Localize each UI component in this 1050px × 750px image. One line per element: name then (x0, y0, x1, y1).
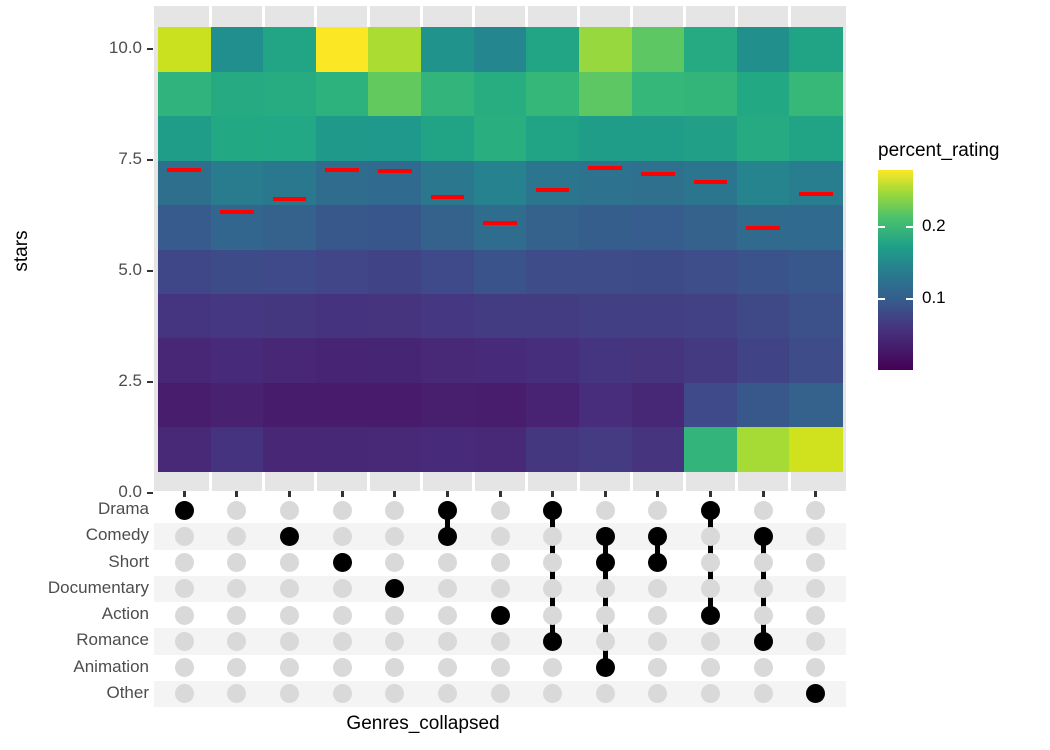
upset-dot-inactive[interactable] (701, 527, 720, 546)
panel-separator (630, 471, 633, 491)
heatmap-cell (684, 293, 737, 338)
y-axis-tick (147, 48, 153, 50)
x-axis-title: Genres_collapsed (0, 713, 846, 735)
upset-dot-inactive[interactable] (333, 684, 352, 703)
panel-separator (262, 6, 265, 27)
heatmap-cell (474, 27, 527, 72)
heatmap-cell (263, 205, 316, 250)
upset-dot-inactive[interactable] (175, 632, 194, 651)
upset-dot-inactive[interactable] (333, 658, 352, 677)
panel-separator (525, 471, 528, 491)
upset-dot-active[interactable] (333, 553, 352, 572)
panel-separator (314, 471, 317, 491)
upset-dot-inactive[interactable] (438, 658, 457, 677)
legend-tick (906, 226, 913, 228)
panel-separator (788, 471, 791, 491)
upset-dot-inactive[interactable] (596, 684, 615, 703)
upset-set-label: Comedy (86, 525, 149, 545)
panel-separator (367, 6, 370, 27)
upset-dot-inactive[interactable] (491, 632, 510, 651)
heatmap-cell (421, 338, 474, 383)
heatmap-cell (368, 249, 421, 294)
upset-set-label: Romance (76, 630, 149, 650)
heatmap-cell (474, 427, 527, 472)
upset-dot-inactive[interactable] (543, 606, 562, 625)
upset-dot-active[interactable] (280, 527, 299, 546)
upset-dot-inactive[interactable] (385, 606, 404, 625)
heatmap-cell (632, 71, 685, 116)
heatmap-cell (263, 427, 316, 472)
upset-dot-inactive[interactable] (280, 606, 299, 625)
heatmap-cell (263, 27, 316, 72)
heatmap-cell (474, 382, 527, 427)
heatmap-cell (158, 160, 211, 205)
heatmap-cell (474, 160, 527, 205)
heatmap-cell (526, 249, 579, 294)
upset-dot-inactive[interactable] (491, 684, 510, 703)
legend-tick (906, 298, 913, 300)
upset-dot-inactive[interactable] (438, 632, 457, 651)
upset-dot-inactive[interactable] (543, 527, 562, 546)
heatmap-cell (737, 160, 790, 205)
upset-dot-inactive[interactable] (333, 501, 352, 520)
heatmap-cell (474, 205, 527, 250)
heatmap-cell (632, 382, 685, 427)
heatmap-cell (158, 205, 211, 250)
heatmap-cell (421, 427, 474, 472)
heatmap-cell (684, 205, 737, 250)
heatmap-cell (368, 71, 421, 116)
upset-dot-inactive[interactable] (175, 606, 194, 625)
heatmap-cell (737, 427, 790, 472)
panel-separator (209, 471, 212, 491)
upset-dot-inactive[interactable] (385, 658, 404, 677)
upset-dot-inactive[interactable] (543, 553, 562, 572)
upset-dot-inactive[interactable] (491, 579, 510, 598)
panel-separator (314, 6, 317, 27)
heatmap-cell (474, 116, 527, 161)
upset-dot-inactive[interactable] (701, 632, 720, 651)
heatmap-cell (474, 338, 527, 383)
heatmap-cell (526, 205, 579, 250)
upset-dot-inactive[interactable] (385, 501, 404, 520)
upset-dot-inactive[interactable] (754, 606, 773, 625)
upset-dot-inactive[interactable] (754, 579, 773, 598)
heatmap-cell (421, 27, 474, 72)
heatmap-cell (368, 160, 421, 205)
heatmap-cell (474, 249, 527, 294)
panel-separator (683, 471, 686, 491)
heatmap-cell (316, 27, 369, 72)
upset-dot-inactive[interactable] (438, 606, 457, 625)
upset-dot-inactive[interactable] (385, 632, 404, 651)
panel-separator (262, 471, 265, 491)
heatmap-cell (263, 293, 316, 338)
upset-dot-active[interactable] (438, 527, 457, 546)
median-marker (325, 168, 359, 172)
heatmap-cell (316, 160, 369, 205)
upset-dot-inactive[interactable] (806, 632, 825, 651)
heatmap-cell (211, 116, 264, 161)
upset-dot-active[interactable] (596, 553, 615, 572)
panel-separator (209, 6, 212, 27)
heatmap-cell (579, 427, 632, 472)
median-marker (799, 192, 833, 196)
upset-dot-active[interactable] (596, 658, 615, 677)
heatmap-cell (158, 382, 211, 427)
heatmap-cell (579, 27, 632, 72)
heatmap-cell (579, 382, 632, 427)
panel-separator (367, 471, 370, 491)
heatmap-cell (526, 293, 579, 338)
y-axis-tick-label: 7.5 (118, 149, 142, 169)
upset-dot-inactive[interactable] (701, 553, 720, 572)
panel-separator (735, 6, 738, 27)
upset-dot-inactive[interactable] (175, 553, 194, 572)
heatmap-cell (421, 205, 474, 250)
heatmap-cell (789, 338, 842, 383)
upset-dot-active[interactable] (543, 632, 562, 651)
upset-dot-inactive[interactable] (806, 606, 825, 625)
upset-dot-inactive[interactable] (596, 501, 615, 520)
upset-dot-active[interactable] (175, 501, 194, 520)
heatmap-cell (684, 338, 737, 383)
upset-dot-inactive[interactable] (280, 632, 299, 651)
heatmap-cell (368, 293, 421, 338)
heatmap-cell (789, 71, 842, 116)
y-axis-tick (147, 270, 153, 272)
heatmap-cell (737, 338, 790, 383)
heatmap-cell (211, 338, 264, 383)
legend-colorbar (878, 170, 913, 370)
heatmap-cell (158, 116, 211, 161)
heatmap-cell (316, 249, 369, 294)
panel-separator (525, 6, 528, 27)
heatmap-cell (158, 293, 211, 338)
heatmap-cell (632, 293, 685, 338)
heatmap-cell (421, 249, 474, 294)
heatmap-cell (211, 249, 264, 294)
heatmap-cell (579, 205, 632, 250)
heatmap-cell (684, 427, 737, 472)
heatmap-cell (158, 338, 211, 383)
heatmap-cell (158, 71, 211, 116)
heatmap-cell (316, 293, 369, 338)
upset-dot-inactive[interactable] (596, 632, 615, 651)
upset-dot-inactive[interactable] (280, 658, 299, 677)
heatmap-cell (421, 293, 474, 338)
heatmap-cell (526, 27, 579, 72)
upset-set-label: Other (106, 683, 149, 703)
panel-separator (420, 6, 423, 27)
upset-dot-inactive[interactable] (754, 684, 773, 703)
median-marker (694, 180, 728, 184)
upset-dot-inactive[interactable] (596, 606, 615, 625)
upset-dot-inactive[interactable] (596, 579, 615, 598)
heatmap-cell (211, 382, 264, 427)
upset-dot-inactive[interactable] (227, 606, 246, 625)
heatmap-cell (684, 116, 737, 161)
median-marker (641, 172, 675, 176)
upset-dot-inactive[interactable] (333, 606, 352, 625)
upset-dot-inactive[interactable] (806, 553, 825, 572)
panel-separator (630, 6, 633, 27)
heatmap-cell (737, 27, 790, 72)
heatmap-cell (789, 116, 842, 161)
panel-separator (577, 6, 580, 27)
heatmap-cell (211, 427, 264, 472)
median-marker (483, 221, 517, 225)
upset-dot-inactive[interactable] (227, 553, 246, 572)
upset-dot-inactive[interactable] (227, 658, 246, 677)
panel-separator (735, 471, 738, 491)
y-axis-title: stars (11, 211, 33, 291)
upset-dot-inactive[interactable] (491, 658, 510, 677)
heatmap-cell (526, 116, 579, 161)
legend-tick-label: 0.2 (922, 216, 946, 236)
heatmap-cell (632, 338, 685, 383)
heatmap-cell (684, 71, 737, 116)
panel-separator (420, 471, 423, 491)
upset-dot-inactive[interactable] (754, 658, 773, 677)
heatmap-cell (684, 27, 737, 72)
heatmap-cell (632, 249, 685, 294)
y-axis-tick (147, 492, 153, 494)
heatmap-cell (263, 71, 316, 116)
heatmap-cell (526, 382, 579, 427)
upset-dot-inactive[interactable] (333, 527, 352, 546)
y-axis-tick (147, 381, 153, 383)
heatmap-cell (737, 116, 790, 161)
heatmap-cell (316, 382, 369, 427)
heatmap-cell (158, 427, 211, 472)
upset-set-label: Documentary (48, 578, 149, 598)
median-marker (220, 210, 254, 214)
heatmap-cell (789, 249, 842, 294)
upset-dot-inactive[interactable] (385, 527, 404, 546)
y-axis-tick-label: 2.5 (118, 371, 142, 391)
heatmap-cell (316, 427, 369, 472)
panel-separator (788, 6, 791, 27)
heatmap-cell (789, 27, 842, 72)
heatmap-cell (737, 382, 790, 427)
median-marker (431, 195, 465, 199)
heatmap-cell (737, 293, 790, 338)
upset-dot-inactive[interactable] (491, 527, 510, 546)
heatmap-cell (526, 338, 579, 383)
upset-set-label: Short (108, 552, 149, 572)
heatmap-cell (263, 116, 316, 161)
heatmap-cell (737, 249, 790, 294)
upset-dot-inactive[interactable] (491, 553, 510, 572)
heatmap-cell (579, 71, 632, 116)
legend-tick (878, 226, 885, 228)
upset-dot-inactive[interactable] (648, 606, 667, 625)
upset-dot-inactive[interactable] (385, 553, 404, 572)
heatmap-cell (368, 338, 421, 383)
median-marker (536, 188, 570, 192)
heatmap-cell (789, 427, 842, 472)
legend-tick-label: 0.1 (922, 288, 946, 308)
panel-separator (472, 6, 475, 27)
heatmap-cell (316, 205, 369, 250)
heatmap-cell (789, 160, 842, 205)
heatmap-cell (632, 27, 685, 72)
upset-dot-inactive[interactable] (227, 501, 246, 520)
heatmap-cell (211, 293, 264, 338)
heatmap-cell (316, 338, 369, 383)
legend-title: percent_rating (878, 140, 999, 162)
heatmap-cell (263, 338, 316, 383)
y-axis-tick-label: 5.0 (118, 260, 142, 280)
heatmap-cell (737, 71, 790, 116)
upset-dot-inactive[interactable] (491, 501, 510, 520)
upset-dot-active[interactable] (438, 501, 457, 520)
heatmap-cell (368, 382, 421, 427)
heatmap-cell (632, 427, 685, 472)
legend-tick (878, 298, 885, 300)
heatmap-cell (789, 382, 842, 427)
upset-dot-active[interactable] (491, 606, 510, 625)
y-axis-tick-label: 10.0 (109, 38, 142, 58)
upset-dot-inactive[interactable] (754, 501, 773, 520)
heatmap-cell (211, 27, 264, 72)
upset-dot-inactive[interactable] (280, 501, 299, 520)
upset-dot-active[interactable] (754, 632, 773, 651)
upset-dot-inactive[interactable] (648, 501, 667, 520)
upset-dot-inactive[interactable] (806, 527, 825, 546)
upset-dot-inactive[interactable] (754, 553, 773, 572)
heatmap-cell (526, 71, 579, 116)
median-marker (273, 197, 307, 201)
heatmap-cell (211, 71, 264, 116)
heatmap-cell (579, 116, 632, 161)
median-marker (746, 226, 780, 230)
heatmap-cell (158, 249, 211, 294)
heatmap-cell (789, 293, 842, 338)
upset-dot-active[interactable] (648, 553, 667, 572)
upset-set-label: Drama (98, 499, 149, 519)
heatmap-cell (368, 27, 421, 72)
upset-matrix-panel (154, 497, 846, 707)
upset-set-label: Animation (73, 657, 149, 677)
upset-dot-inactive[interactable] (806, 658, 825, 677)
upset-dot-active[interactable] (543, 501, 562, 520)
heatmap-cell (368, 116, 421, 161)
heatmap-cell (789, 205, 842, 250)
heatmap-cell (579, 249, 632, 294)
heatmap-cell (421, 116, 474, 161)
upset-dot-inactive[interactable] (701, 658, 720, 677)
upset-dot-inactive[interactable] (333, 632, 352, 651)
heatmap-cell (632, 205, 685, 250)
upset-dot-inactive[interactable] (175, 527, 194, 546)
upset-dot-inactive[interactable] (648, 658, 667, 677)
heatmap-cell (421, 382, 474, 427)
upset-dot-active[interactable] (754, 527, 773, 546)
heatmap-cell (158, 27, 211, 72)
heatmap-cell (368, 205, 421, 250)
plot-root: stars 0.02.55.07.510.0 DramaComedyShortD… (0, 0, 1050, 750)
heatmap-cell (632, 116, 685, 161)
y-axis-tick (147, 159, 153, 161)
upset-dot-inactive[interactable] (806, 501, 825, 520)
heatmap-cell (263, 382, 316, 427)
heatmap-cell (684, 249, 737, 294)
upset-dot-inactive[interactable] (333, 579, 352, 598)
heatmap-panel (154, 6, 846, 491)
upset-dot-active[interactable] (596, 527, 615, 546)
heatmap-cell (526, 160, 579, 205)
upset-set-label: Action (102, 604, 149, 624)
heatmap-cell (474, 293, 527, 338)
panel-separator (472, 471, 475, 491)
upset-dot-inactive[interactable] (175, 658, 194, 677)
heatmap-cell (263, 249, 316, 294)
upset-dot-inactive[interactable] (543, 658, 562, 677)
heatmap-cell (632, 160, 685, 205)
upset-dot-active[interactable] (701, 606, 720, 625)
panel-separator (577, 471, 580, 491)
median-marker (167, 168, 201, 172)
upset-dot-inactive[interactable] (280, 553, 299, 572)
upset-dot-active[interactable] (701, 501, 720, 520)
heatmap-grid (158, 27, 842, 471)
heatmap-cell (526, 427, 579, 472)
heatmap-cell (316, 116, 369, 161)
heatmap-cell (316, 71, 369, 116)
heatmap-cell (421, 71, 474, 116)
heatmap-cell (474, 71, 527, 116)
median-marker (378, 169, 412, 173)
panel-separator (683, 6, 686, 27)
median-marker (588, 166, 622, 170)
heatmap-cell (579, 338, 632, 383)
upset-dot-inactive[interactable] (438, 553, 457, 572)
heatmap-cell (368, 427, 421, 472)
heatmap-cell (684, 382, 737, 427)
heatmap-cell (211, 160, 264, 205)
heatmap-cell (579, 293, 632, 338)
